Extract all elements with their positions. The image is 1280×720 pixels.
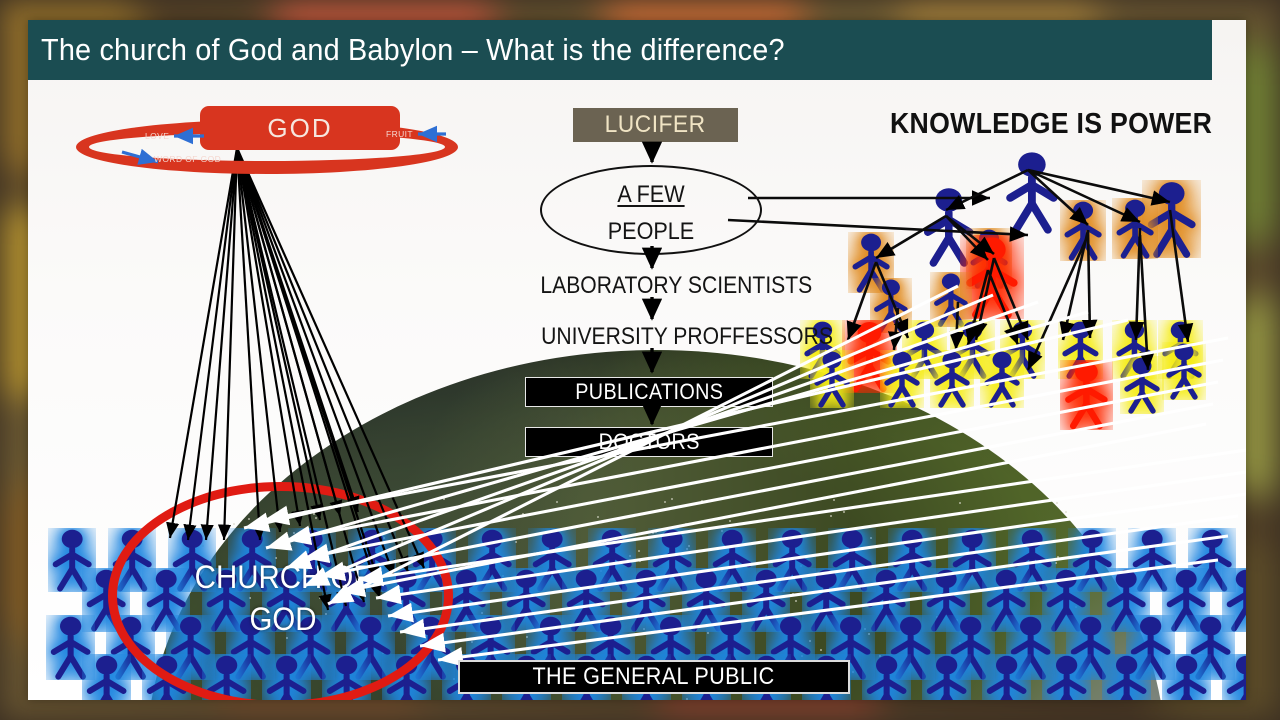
ring-label-word-of-god: WORD OF GOD — [154, 154, 221, 164]
ring-label-love: LOVE — [145, 131, 169, 141]
publications-label: PUBLICATIONS — [575, 379, 723, 405]
god-group: GOD LOVE FRUIT WORD OF GOD — [66, 106, 466, 186]
hierarchy-figure — [1162, 342, 1206, 400]
hierarchy-figure — [930, 350, 974, 408]
hierarchy-figure — [810, 350, 854, 408]
church-label-line1: CHURCH OF — [186, 556, 379, 598]
publications-bar[interactable]: PUBLICATIONS — [525, 377, 773, 407]
ring-label-fruit: FRUIT — [386, 129, 413, 139]
doctors-label: DOCTORS — [598, 429, 699, 455]
hierarchy-figure — [930, 272, 972, 327]
doctors-bar[interactable]: DOCTORS — [525, 427, 773, 457]
hierarchy-figure — [1112, 198, 1158, 259]
lucifer-box[interactable]: LUCIFER — [573, 108, 738, 142]
church-label-line2: GOD — [186, 598, 379, 640]
general-public-bar[interactable]: THE GENERAL PUBLIC — [458, 660, 850, 694]
page-title: The church of God and Babylon – What is … — [28, 32, 785, 68]
general-public-label: THE GENERAL PUBLIC — [533, 663, 775, 691]
hierarchy-figure — [980, 350, 1024, 408]
slide-title-bar: The church of God and Babylon – What is … — [28, 20, 1212, 80]
hierarchy-figure — [1120, 356, 1164, 414]
hierarchy-figure — [1060, 360, 1113, 430]
hierarchy-figure — [1060, 200, 1106, 261]
slide-canvas: GOD LOVE FRUIT WORD OF GOD LUCIFER A FEW… — [28, 20, 1246, 700]
a-few-label: A FEW — [551, 176, 751, 213]
hierarchy-figure — [1000, 150, 1064, 234]
god-ring-arrows — [66, 106, 466, 186]
university-professors-label: UNIVERSITY PROFFESSORS — [541, 323, 777, 351]
church-of-god-label: CHURCH OF GOD — [186, 556, 379, 640]
hierarchy-figure — [880, 350, 924, 408]
a-few-people-label: A FEW PEOPLE — [551, 176, 751, 250]
laboratory-scientists-label: LABORATORY SCIENTISTS — [540, 272, 765, 300]
knowledge-is-power-headline: KNOWLEDGE IS POWER — [890, 108, 1212, 141]
lucifer-label: LUCIFER — [605, 111, 706, 139]
people-label: PEOPLE — [551, 213, 751, 250]
